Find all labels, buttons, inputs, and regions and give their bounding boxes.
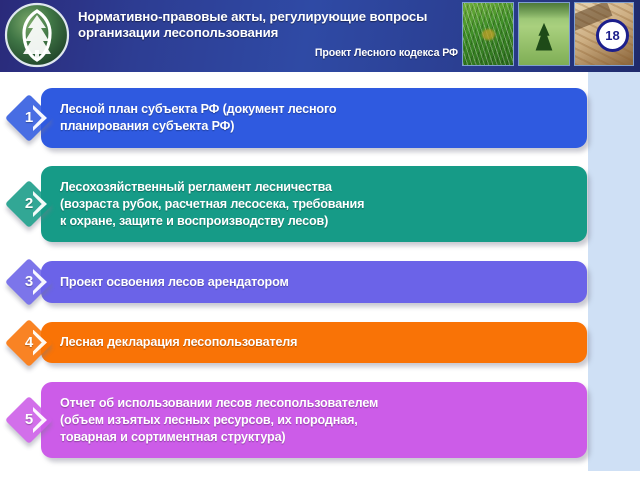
list-item-number: 2 (12, 187, 46, 221)
list-item-bar[interactable]: Лесная декларация лесопользователя (41, 322, 587, 363)
list-item-label: Лесной план субъекта РФ (документ лесног… (41, 101, 348, 135)
list-item-label: Лесная декларация лесопользователя (41, 334, 309, 351)
page-subtitle: Проект Лесного кодекса РФ (78, 47, 458, 59)
list-item-bar[interactable]: Отчет об использовании лесов лесопользов… (41, 382, 587, 458)
list-item-number: 5 (12, 403, 46, 437)
list-item-bar[interactable]: Проект освоения лесов арендатором (41, 261, 587, 303)
photo-pine-needles (462, 2, 514, 66)
list-item-number-badge[interactable]: 5 (12, 403, 46, 437)
list-item-label: Проект освоения лесов арендатором (41, 274, 301, 291)
list-item-label: Отчет об использовании лесов лесопользов… (41, 395, 390, 446)
list-item-number-badge[interactable]: 3 (12, 265, 46, 299)
page-number-badge: 18 (596, 19, 629, 52)
list-item-number-badge[interactable]: 1 (12, 101, 46, 135)
document-hierarchy-list: Лесной план субъекта РФ (документ лесног… (0, 72, 640, 480)
list-item-number: 4 (12, 326, 46, 360)
page-title: Нормативно-правовые акты, регулирующие в… (78, 9, 458, 40)
list-item-number-badge[interactable]: 4 (12, 326, 46, 360)
slide-root: Нормативно-правовые акты, регулирующие в… (0, 0, 640, 480)
list-item-label: Лесохозяйственный регламент лесничества … (41, 179, 376, 230)
photo-young-spruce (518, 2, 570, 66)
list-item-number: 1 (12, 101, 46, 135)
list-item-bar[interactable]: Лесной план субъекта РФ (документ лесног… (41, 88, 587, 148)
list-item-number: 3 (12, 265, 46, 299)
list-item-number-badge[interactable]: 2 (12, 187, 46, 221)
list-item-bar[interactable]: Лесохозяйственный регламент лесничества … (41, 166, 587, 242)
slide-header: Нормативно-правовые акты, регулирующие в… (0, 0, 640, 72)
header-title-block: Нормативно-правовые акты, регулирующие в… (78, 9, 458, 59)
forest-emblem-logo (4, 2, 70, 68)
